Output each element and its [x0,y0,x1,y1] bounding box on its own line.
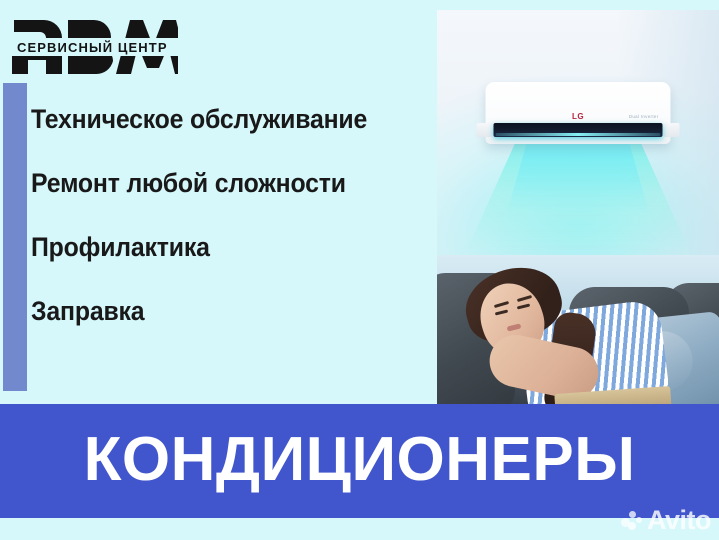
service-item: Ремонт любой сложности [31,168,399,198]
service-item: Профилактика [31,232,399,262]
left-accent-bar [3,83,27,391]
avito-watermark: Avito [621,507,711,534]
banner-title: КОНДИЦИОНЕРЫ [0,429,719,491]
service-item: Заправка [31,296,399,326]
ac-brand-label: LG [572,112,584,121]
air-conditioner-photo: LG Dual Inverter [437,10,719,255]
ac-air-vent [494,123,663,137]
avito-logo-icon [621,511,643,531]
woman-relaxing-photo [437,255,719,410]
advertisement-card: СЕРВИСНЫЙ ЦЕНТР Техническое обслуживание… [0,0,719,540]
logo-abm-icon: СЕРВИСНЫЙ ЦЕНТР [8,8,178,80]
ac-end-cap-left [477,123,493,137]
services-list: Техническое обслуживание Ремонт любой сл… [31,104,431,326]
ac-end-cap-right [664,123,680,137]
company-logo: СЕРВИСНЫЙ ЦЕНТР [8,8,178,80]
avito-wordmark: Avito [647,507,711,534]
bottom-banner: КОНДИЦИОНЕРЫ [0,404,719,518]
service-item: Техническое обслуживание [31,104,399,134]
ac-unit-body: LG Dual Inverter [486,82,671,144]
ac-sub-label: Dual Inverter [629,114,659,119]
logo-tagline: СЕРВИСНЫЙ ЦЕНТР [17,40,168,55]
